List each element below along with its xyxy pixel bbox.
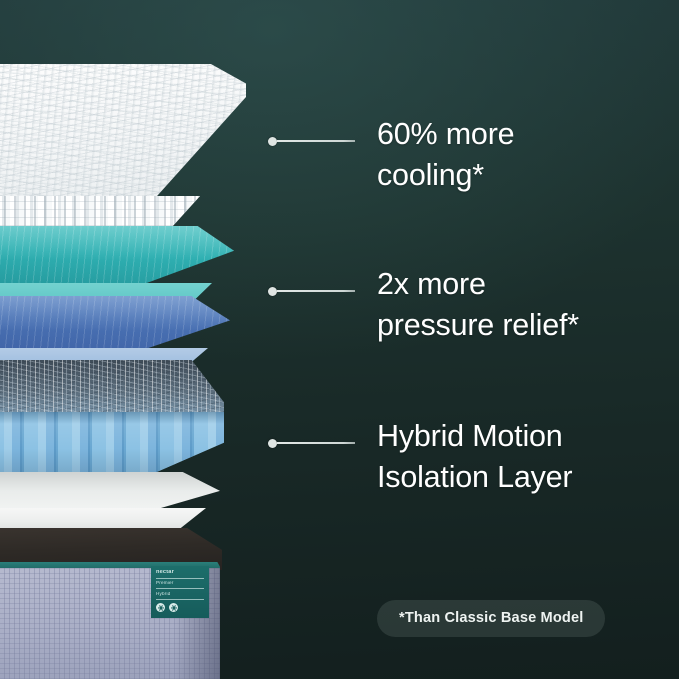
- snowflake-icon: [169, 603, 178, 612]
- footnote-badge: *Than Classic Base Model: [377, 600, 605, 637]
- callout-dot-icon: [268, 287, 277, 296]
- callout-dot-icon: [268, 137, 277, 146]
- mattress-layer-pocketed-coil-unit: [0, 360, 224, 478]
- blue-foam-sheen: [0, 296, 230, 354]
- callout-motion-isolation: Hybrid Motion Isolation Layer: [268, 424, 572, 497]
- nectar-brand-label: nectar Premier Hybrid: [151, 566, 209, 618]
- brand-label-type: Hybrid: [156, 592, 204, 600]
- infographic-canvas: nectar Premier Hybrid 60% more cooling* …: [0, 0, 679, 679]
- coil-pocket-columns: [0, 412, 224, 478]
- callout-cooling: 60% more cooling*: [268, 122, 514, 195]
- callout-line-icon: [277, 442, 355, 444]
- mattress-layer-stack-illustration: nectar Premier Hybrid: [0, 0, 300, 679]
- teal-foam-sheen: [0, 226, 234, 288]
- callout-cooling-text: 60% more cooling*: [377, 114, 514, 195]
- brand-label-name: nectar: [156, 570, 204, 579]
- cover-quilt-texture: [0, 64, 246, 214]
- snowflake-icon: [156, 603, 165, 612]
- callout-connector: [268, 424, 355, 462]
- callout-motion-isolation-text: Hybrid Motion Isolation Layer: [377, 416, 572, 497]
- mattress-layer-base-support-foam: [0, 472, 220, 514]
- callout-pressure-relief: 2x more pressure relief*: [268, 272, 579, 345]
- callout-dot-icon: [268, 439, 277, 448]
- callout-pressure-relief-text: 2x more pressure relief*: [377, 264, 579, 345]
- callout-line-icon: [277, 140, 355, 142]
- callout-connector: [268, 122, 355, 160]
- brand-label-model: Premier: [156, 581, 204, 589]
- callout-line-icon: [277, 290, 355, 292]
- base-foam-front-face: [0, 508, 206, 530]
- callout-connector: [268, 272, 355, 310]
- brand-label-icon-row: [156, 602, 204, 612]
